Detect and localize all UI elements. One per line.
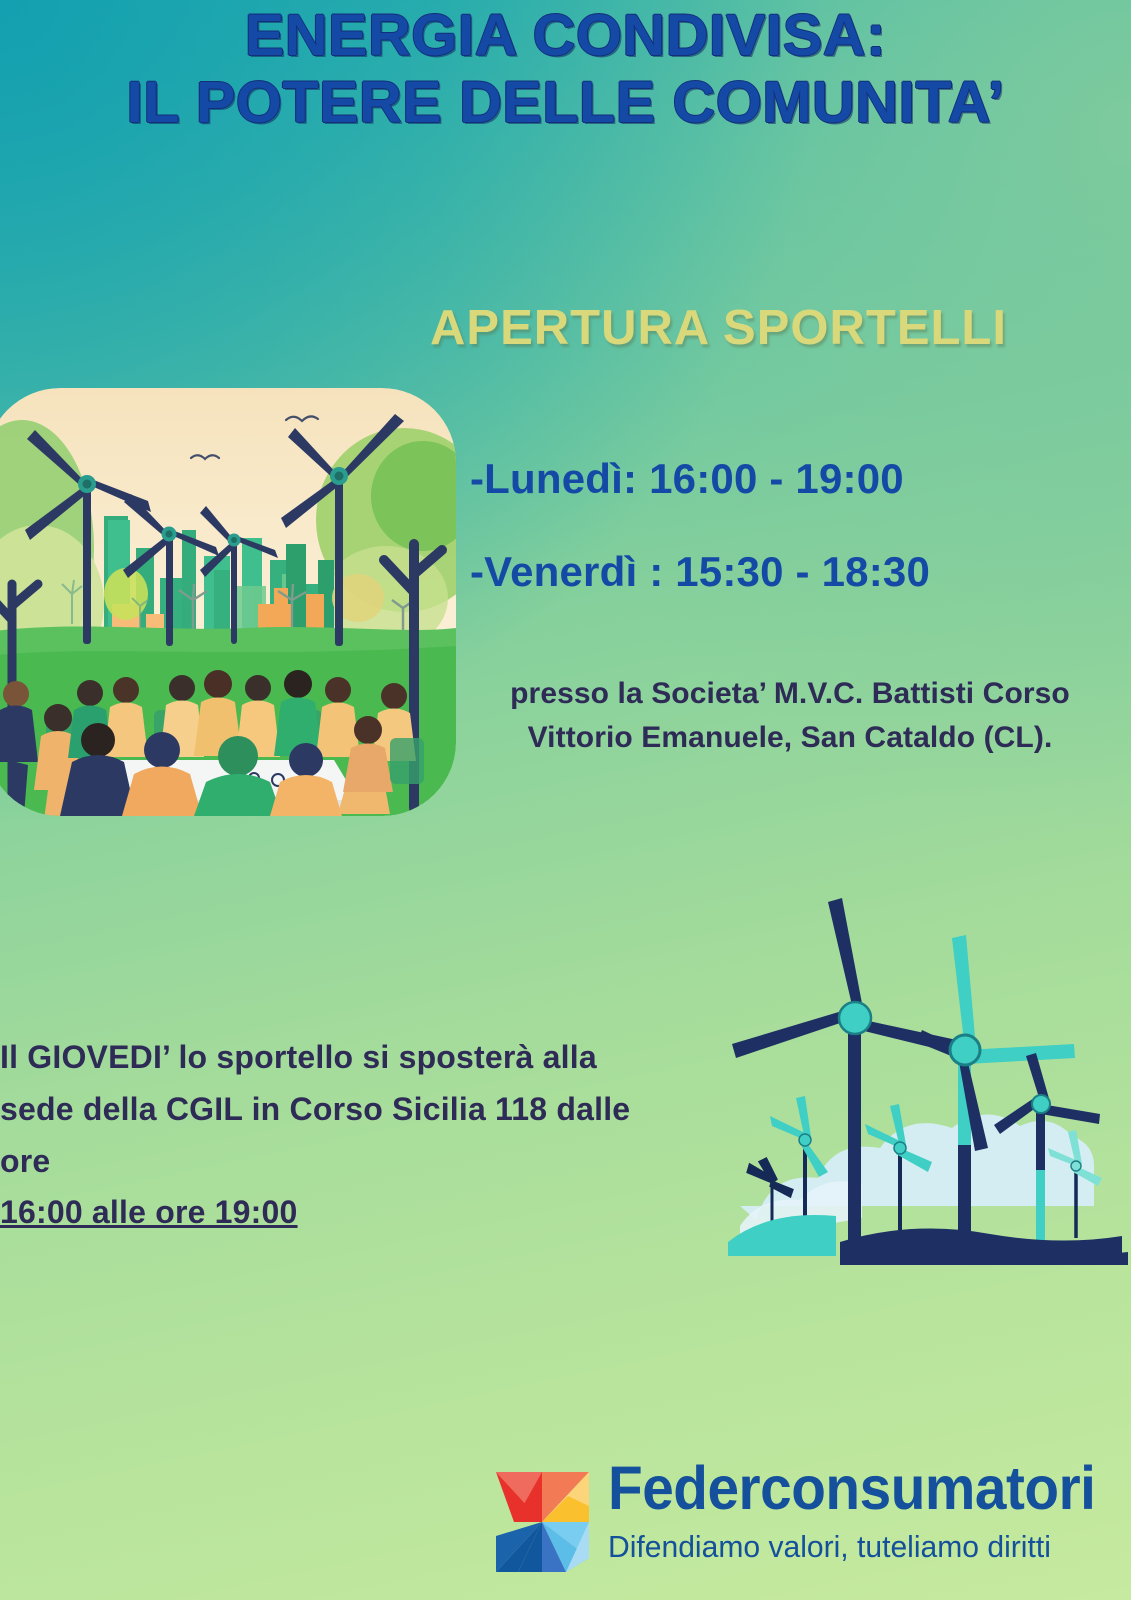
wind-farm-illustration xyxy=(700,890,1131,1265)
venue-address: presso la Societa’ M.V.C. Battisti Corso… xyxy=(470,672,1110,761)
federconsumatori-logo-mark-icon xyxy=(490,1466,595,1578)
notice-line-3-prefix: ore xyxy=(0,1136,700,1188)
schedule-list: -Lunedì: 16:00 - 19:00 -Venerdì : 15:30 … xyxy=(470,455,1100,641)
logo-name: Federconsumatori xyxy=(608,1458,1054,1519)
community-meeting-illustration xyxy=(0,388,456,816)
section-heading-apertura-sportelli: APERTURA SPORTELLI xyxy=(430,300,1090,356)
notice-line-3-hours: 16:00 alle ore 19:00 xyxy=(0,1194,298,1230)
notice-line-1: Il GIOVEDI’ lo sportello si sposterà all… xyxy=(0,1032,700,1084)
venue-line-2: Vittorio Emanuele, San Cataldo (CL). xyxy=(470,716,1110,760)
venue-line-1: presso la Societa’ M.V.C. Battisti Corso xyxy=(470,672,1110,716)
federconsumatori-logo: Federconsumatori Difendiamo valori, tute… xyxy=(490,1458,1090,1588)
logo-tagline: Difendiamo valori, tuteliamo diritti xyxy=(608,1529,1074,1565)
federconsumatori-logo-text: Federconsumatori Difendiamo valori, tute… xyxy=(608,1458,1088,1565)
thursday-relocation-notice: Il GIOVEDI’ lo sportello si sposterà all… xyxy=(0,1032,700,1239)
notice-line-3: ore 16:00 alle ore 19:00 xyxy=(0,1136,700,1240)
title-line-2: IL POTERE DELLE COMUNITA’ xyxy=(0,75,1131,130)
schedule-item-friday: -Venerdì : 15:30 - 18:30 xyxy=(470,548,1100,596)
page-title: ENERGIA CONDIVISA: IL POTERE DELLE COMUN… xyxy=(0,8,1131,130)
notice-line-2: sede della CGIL in Corso Sicilia 118 dal… xyxy=(0,1084,700,1136)
poster-canvas: ENERGIA CONDIVISA: IL POTERE DELLE COMUN… xyxy=(0,0,1131,1600)
title-line-1: ENERGIA CONDIVISA: xyxy=(0,8,1131,63)
schedule-item-monday: -Lunedì: 16:00 - 19:00 xyxy=(470,455,1100,503)
